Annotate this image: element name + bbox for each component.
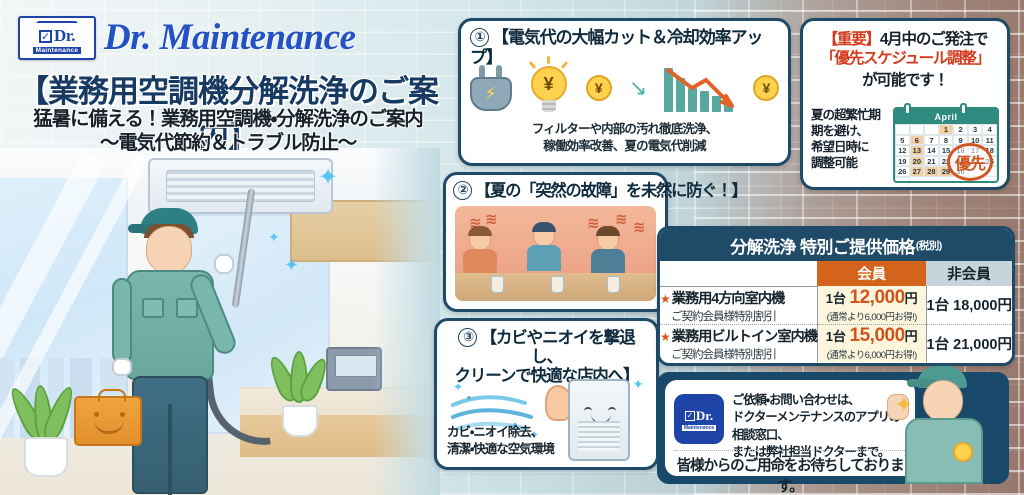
price-row-2-item: ★業務用ビルトイン室内機 ご契約会員様特別割引: [660, 324, 817, 362]
plant-pot: [24, 437, 68, 477]
worker-head: [923, 380, 963, 422]
price-row-1-member: 1台 12,000円 (通常より6,000円お得!): [817, 286, 926, 324]
technician-glove-lower: [112, 358, 132, 376]
benefit-2-heading: ②【夏の「突然の故障」を未然に防ぐ！】: [446, 175, 665, 201]
price-row-2-member: 1台 15,000円 (通常より6,000円お得!): [817, 324, 926, 362]
person-torso: [527, 245, 561, 271]
calendar-day: 6: [910, 135, 925, 146]
person-hair: [468, 226, 492, 236]
price-row-2-non-member: 1台 21,000円: [926, 324, 1012, 362]
important-body: 夏の超繁忙期 期を避け、 希望日時に 調整可能: [811, 107, 897, 171]
price-row-1-subtitle: ご契約会員様特別割引: [660, 308, 817, 324]
calendar-day: 26: [895, 166, 910, 177]
person-hair: [596, 226, 620, 236]
benefit-2-heading-text: 【夏の「突然の故障」を未然に防ぐ！】: [475, 182, 747, 200]
air-purifier-icon: [568, 379, 630, 461]
toolbox-eye-right: [120, 412, 125, 417]
person-left: [469, 229, 497, 275]
worker-uniform: [905, 418, 983, 484]
important-line-2: 「優先スケジュール調整」: [803, 49, 1007, 68]
price-table-card: 分解洗浄 特別ご提供価格(税別) 会員 非会員 ★業務用4方向室内機 ご契約会員…: [657, 226, 1015, 366]
technician-head: [146, 226, 192, 274]
bulb-ray: [528, 61, 535, 69]
uniform-pocket-left: [142, 298, 164, 318]
priority-stamp: 優先: [947, 143, 993, 181]
price-row-1-member-amount: 12,000: [850, 287, 905, 308]
price-col-blank: [660, 261, 817, 286]
ceiling-ac-unit: [148, 158, 333, 214]
calendar-day: 13: [910, 145, 925, 156]
table-row: ★業務用4方向室内機 ご契約会員様特別割引 1台 12,000円 (通常より6,…: [660, 286, 1012, 324]
worker-badge-icon: [953, 442, 973, 462]
bulb-yen-symbol: ¥: [531, 66, 567, 102]
benefit-card-1: ①【電気代の大幅カット＆冷却効率アップ】 ⚡ ¥ ¥ ↘: [458, 18, 791, 166]
calendar-day: [924, 124, 939, 135]
subtitle-line-2: 〜電気代節約＆トラブル防止〜: [8, 132, 448, 156]
person-head: [469, 229, 491, 251]
logo-check-icon: ✓: [39, 30, 52, 43]
contact-closing: 皆様からのご用命をお待ちしております。: [665, 454, 915, 495]
plant-left: [14, 367, 84, 477]
benefit-card-2: ②【夏の「突然の故障」を未然に防ぐ！】 ≋ ≋ ≋ ≋ ≋: [443, 172, 668, 312]
calendar-day: 8: [939, 135, 954, 146]
benefit-1-number: ①: [470, 28, 489, 47]
price-row-2-member-note: (通常より6,000円お得!): [818, 347, 926, 361]
benefit-3-heading: ③【カビやニオイを撃退し、 クリーンで快適な店内へ】: [437, 321, 656, 386]
price-row-2-name: 業務用ビルトイン室内機: [672, 329, 817, 345]
important-notice-card: 【重要】4月中のご発注で 「優先スケジュール調整」 が可能です！ 夏の超繁忙期 …: [800, 18, 1010, 190]
important-body-line-3: 希望日時に: [811, 139, 897, 155]
benefit-1-note-line-2: 稼働効率改善、夏の電気代削減: [461, 138, 788, 155]
person-right: [597, 229, 625, 275]
calendar-day: [895, 177, 910, 184]
important-body-line-1: 夏の超繁忙期: [811, 107, 897, 123]
contact-line-1: ご依頼・お問い合わせは、: [732, 392, 909, 409]
calendar-day: 2: [953, 124, 968, 135]
price-col-non-member: 非会員: [926, 261, 1012, 286]
important-line-1: 【重要】4月中のご発注で: [803, 21, 1007, 49]
important-body-line-4: 調整可能: [811, 155, 897, 171]
hot-room-illustration: ≋ ≋ ≋ ≋ ≋: [455, 206, 656, 301]
price-row-1-member-note: (通常より6,000円お得!): [818, 309, 926, 323]
price-row-1-member-suffix: 円: [905, 291, 918, 306]
plant-right: [272, 341, 332, 437]
purifier-eye-right: [608, 407, 616, 412]
brand-name: Dr. Maintenance: [104, 16, 356, 59]
lightbulb-icon: ¥: [529, 62, 569, 114]
important-tag: 【重要】: [823, 31, 880, 48]
page-subtitle: 猛暑に備える！業務用空調機・分解洗浄のご案内 〜電気代節約＆トラブル防止〜: [8, 108, 448, 156]
table-row: ★業務用ビルトイン室内機 ご契約会員様特別割引 1台 15,000円 (通常より…: [660, 324, 1012, 362]
calendar-ring-left: [904, 103, 911, 115]
calendar-day: 12: [895, 145, 910, 156]
yen-coin-icon: ¥: [586, 75, 612, 101]
price-title-suffix: (税別): [916, 238, 942, 253]
price-row-2-member-prefix: 1台: [826, 329, 846, 344]
important-body-line-2: 期を避け、: [811, 123, 897, 139]
benefit-1-note-line-1: フィルターや内部の汚れ徹底洗浄、: [461, 121, 788, 138]
star-icon: ★: [660, 330, 670, 344]
contact-text: ご依頼・お問い合わせは、 ドクターメンテナンスのアプリの相談窓口、 または弊社担…: [732, 392, 909, 462]
contact-logo-subtext: Maintenance: [682, 425, 716, 431]
price-table-header-row: 会員 非会員: [660, 261, 1012, 286]
flyer-root: ✦ ✦ ✦ ✓ Dr. Maintenance Dr. Maintenance …: [0, 0, 1024, 495]
person-head: [597, 229, 619, 251]
price-row-2-member-amount: 15,000: [850, 325, 905, 346]
benefit-2-number: ②: [453, 181, 472, 200]
star-icon: ★: [660, 292, 670, 306]
price-table: 会員 非会員 ★業務用4方向室内機 ご契約会員様特別割引 1台: [660, 261, 1012, 362]
benefit-card-3: ③【カビやニオイを撃退し、 クリーンで快適な店内へ】 ✦ ✦ ✦: [434, 318, 659, 470]
down-arrow-icon: ↘: [629, 75, 647, 101]
price-title-text: 分解洗浄 特別ご提供価格: [730, 233, 915, 258]
savings-bar-chart: [664, 64, 736, 112]
heat-wave-icon: ≋: [485, 210, 498, 228]
toolbox-eye-left: [94, 412, 99, 417]
price-row-1-title: ★業務用4方向室内機: [660, 287, 817, 308]
calendar-day: 5: [895, 135, 910, 146]
yen-coin-icon-2: ¥: [753, 75, 779, 101]
technician-glove-upper: [214, 254, 234, 274]
bulb-ray: [560, 61, 567, 69]
sparkle-icon: ✦: [453, 381, 463, 393]
toolbox-smile: [94, 420, 124, 434]
plug-body: ⚡: [470, 77, 512, 111]
benefit-3-note-line-2: 清潔・快適な空気環境: [447, 441, 554, 458]
heat-wave-icon: ≋: [633, 218, 646, 236]
drink-glass: [491, 276, 504, 293]
logo-roof-shape: [26, 21, 88, 31]
uniform-pocket-right: [176, 298, 198, 318]
person-hair: [532, 222, 556, 232]
subtitle-line-1: 猛暑に備える！業務用空調機・分解洗浄のご案内: [8, 108, 448, 132]
photo-edge-fade: [372, 148, 440, 495]
benefit-1-icon-row: ⚡ ¥ ¥ ↘ ¥: [461, 55, 788, 121]
person-torso: [591, 249, 625, 275]
purifier-grill: [578, 421, 620, 451]
price-row-1-member-prefix: 1台: [826, 291, 846, 306]
sparkle-icon: ✦: [632, 377, 644, 391]
calendar-day: 11: [982, 135, 997, 146]
price-row-1-non-member: 1台 18,000円: [926, 286, 1012, 324]
contact-logo-check-icon: ✓: [685, 411, 695, 421]
calendar-day: 4: [982, 124, 997, 135]
price-table-title: 分解洗浄 特別ご提供価格(税別): [660, 229, 1012, 261]
benefit-1-note: フィルターや内部の汚れ徹底洗浄、 稼働効率改善、夏の電気代削減: [461, 121, 788, 155]
contact-section: ✓ Dr. Maintenance ご依頼・お問い合わせは、 ドクターメンテナン…: [657, 372, 1009, 484]
technician-trousers: [132, 376, 208, 494]
technician-photo: ✦ ✦ ✦: [0, 148, 440, 495]
price-row-2-member-suffix: 円: [905, 329, 918, 344]
important-line-3: が可能です！: [803, 68, 1007, 90]
contact-line-2: ドクターメンテナンスのアプリの相談窓口、: [732, 409, 909, 444]
calendar-day: 1: [939, 124, 954, 135]
calendar-day: 21: [924, 156, 939, 167]
calendar-day: 7: [924, 135, 939, 146]
sparkle-icon: ✦: [895, 392, 913, 418]
price-row-2-subtitle: ご契約会員様特別割引: [660, 346, 817, 362]
price-row-1-member-price: 1台 12,000円: [818, 287, 926, 309]
price-row-2-title: ★業務用ビルトイン室内機: [660, 325, 817, 346]
person-torso: [463, 249, 497, 275]
sparkle-icon: ✦: [268, 230, 280, 244]
toolbox-icon: [74, 396, 142, 446]
contact-app-logo: ✓ Dr. Maintenance: [674, 394, 724, 444]
calendar-ring-right: [960, 103, 967, 115]
calendar-day: 27: [910, 166, 925, 177]
person-head: [533, 225, 555, 247]
calendar-day: 14: [924, 145, 939, 156]
contact-logo-dr-text: Dr.: [696, 408, 713, 424]
contact-divider: [675, 450, 905, 451]
trend-down-arrow-icon: [666, 66, 736, 110]
heat-wave-icon: ≋: [615, 210, 628, 228]
price-row-1-name: 業務用4方向室内機: [672, 291, 784, 307]
person-center: [533, 225, 561, 271]
technician-figure: [110, 208, 240, 495]
important-line-1-rest: 4月中のご発注で: [880, 31, 988, 48]
plug-icon: ⚡: [470, 65, 512, 111]
brand-logo: ✓ Dr. Maintenance: [18, 16, 96, 60]
bulb-base: [542, 100, 556, 112]
price-row-2-member-price: 1台 15,000円: [818, 325, 926, 347]
calendar-day: 3: [968, 124, 983, 135]
benefit-3-number: ③: [458, 328, 477, 347]
benefit-3-heading-line-1: 【カビやニオイを撃退し、: [480, 329, 634, 366]
calendar-day: 28: [924, 166, 939, 177]
contact-bubble: ✓ Dr. Maintenance ご依頼・お問い合わせは、 ドクターメンテナン…: [665, 380, 915, 476]
logo-subtext: Maintenance: [33, 47, 82, 54]
benefit-3-note-line-1: カビ・ニオイ除去、: [447, 424, 554, 441]
sparkle-icon: ✦: [318, 166, 338, 190]
calendar-day: 20: [910, 156, 925, 167]
technician-lower-arm: [112, 278, 132, 364]
calendar-day: [910, 124, 925, 135]
header: ✓ Dr. Maintenance Dr. Maintenance 【業務用空調…: [0, 0, 455, 160]
benefit-3-note: カビ・ニオイ除去、 清潔・快適な空気環境: [447, 424, 554, 458]
purifier-eye-left: [584, 407, 592, 412]
calendar-day: 19: [895, 156, 910, 167]
price-row-1-item: ★業務用4方向室内機 ご契約会員様特別割引: [660, 286, 817, 324]
calendar-day: [895, 124, 910, 135]
plant-pot: [282, 405, 318, 437]
worker-figure: [893, 364, 1003, 484]
price-col-member: 会員: [817, 261, 926, 286]
sparkle-icon: ✦: [284, 256, 299, 274]
drink-glass: [607, 276, 620, 293]
bulb-ray: [547, 56, 550, 64]
drink-glass: [551, 276, 564, 293]
